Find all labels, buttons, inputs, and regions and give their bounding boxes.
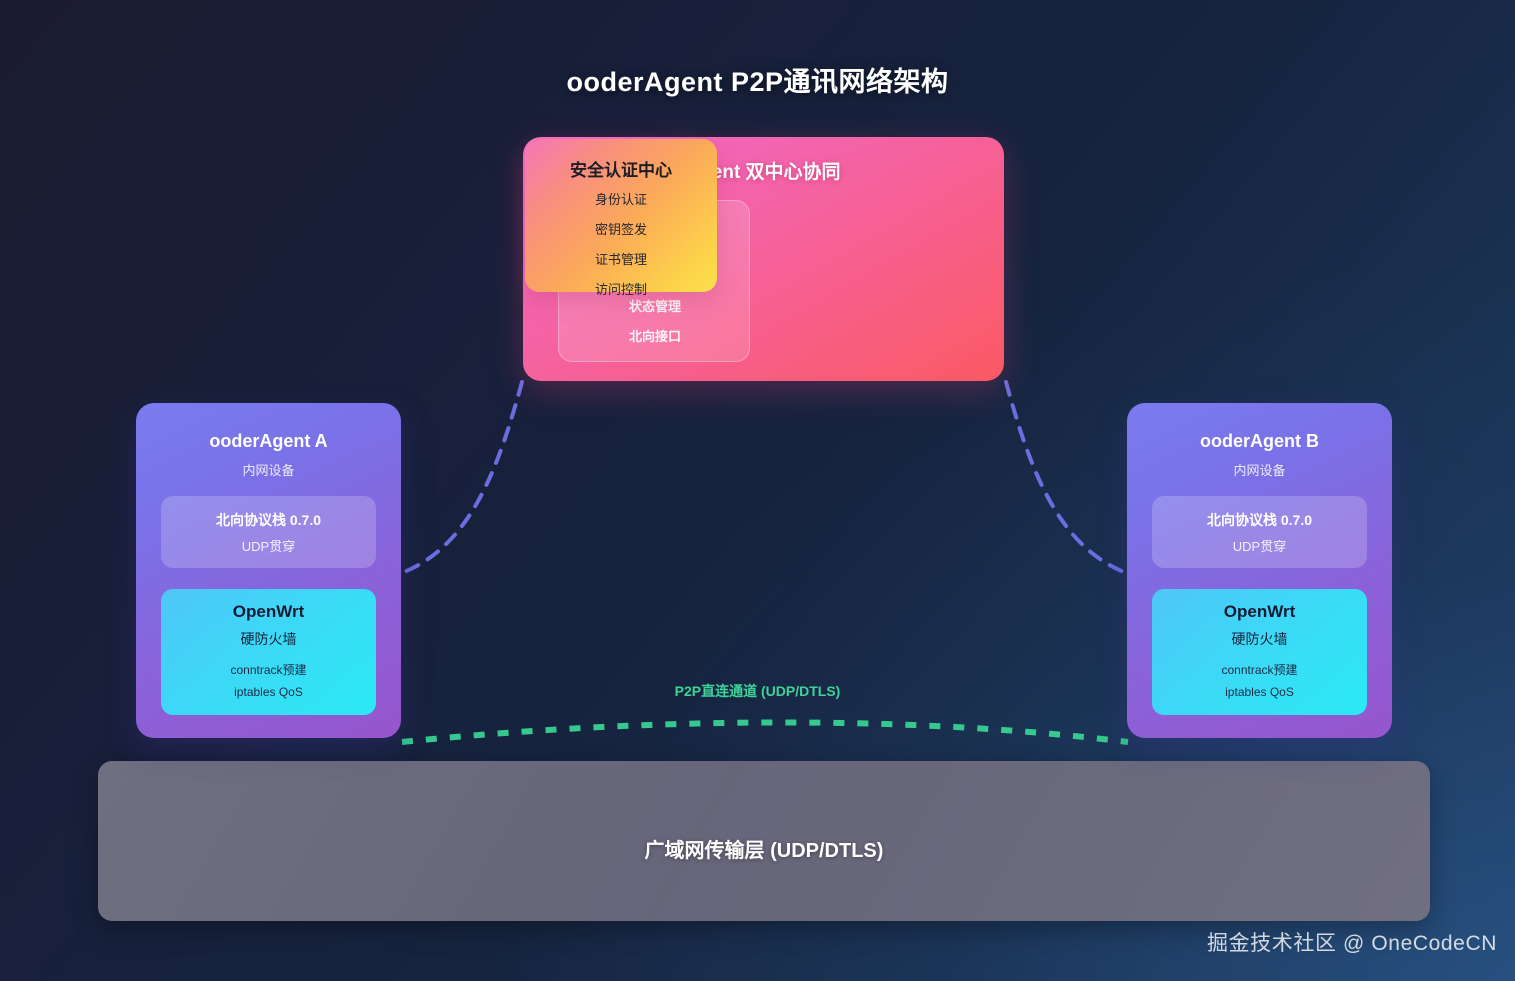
diagram-canvas: ooderAgent P2P通讯网络架构 Agent 双中心协同 状态管理 北向… (0, 0, 1515, 981)
list-item: 密钥签发 (525, 219, 717, 238)
list-item: 证书管理 (525, 249, 717, 268)
wan-transport-layer[interactable]: 广域网传输层 (UDP/DTLS) (98, 761, 1430, 921)
agent-b-protocol-subtitle: UDP贯穿 (1152, 536, 1367, 555)
agent-b-title: ooderAgent B (1127, 431, 1392, 452)
page-title: ooderAgent P2P通讯网络架构 (0, 60, 1515, 99)
list-item: 状态管理 (559, 296, 751, 315)
agent-b-openwrt-feature: conntrack预建 (1152, 661, 1367, 678)
list-item: 身份认证 (525, 189, 717, 208)
agent-a-title: ooderAgent A (136, 431, 401, 452)
security-center-list: 身份认证 密钥签发 证书管理 访问控制 (525, 189, 717, 298)
list-item: 北向接口 (559, 326, 751, 345)
agent-b-protocol-title: 北向协议栈 0.7.0 (1152, 510, 1367, 530)
agent-a-protocol-card[interactable]: 北向协议栈 0.7.0 UDP贯穿 (161, 496, 376, 568)
agent-b-openwrt-title: OpenWrt (1152, 602, 1367, 622)
agent-a-openwrt-title: OpenWrt (161, 602, 376, 622)
connector-hub-to-agent-b (1006, 382, 1124, 572)
agent-b-openwrt-subtitle: 硬防火墙 (1152, 629, 1367, 649)
p2p-channel-label: P2P直连通道 (UDP/DTLS) (0, 681, 1515, 701)
list-item: 访问控制 (525, 279, 717, 298)
agent-a-protocol-title: 北向协议栈 0.7.0 (161, 510, 376, 530)
agent-b-protocol-card[interactable]: 北向协议栈 0.7.0 UDP贯穿 (1152, 496, 1367, 568)
agent-a-subtitle: 内网设备 (136, 460, 401, 479)
connector-hub-to-agent-a (404, 382, 522, 572)
agent-a-openwrt-feature: conntrack预建 (161, 661, 376, 678)
connector-p2p-channel (402, 722, 1128, 742)
wan-transport-label: 广域网传输层 (UDP/DTLS) (98, 834, 1430, 863)
security-center-card[interactable]: 安全认证中心 身份认证 密钥签发 证书管理 访问控制 (525, 139, 717, 292)
agent-a-openwrt-subtitle: 硬防火墙 (161, 629, 376, 649)
hub-inner-card-list: 状态管理 北向接口 (559, 296, 751, 345)
agent-a-protocol-subtitle: UDP贯穿 (161, 536, 376, 555)
agent-b-subtitle: 内网设备 (1127, 460, 1392, 479)
watermark: 掘金技术社区 @ OneCodeCN (1207, 927, 1497, 957)
security-center-title: 安全认证中心 (525, 156, 717, 181)
